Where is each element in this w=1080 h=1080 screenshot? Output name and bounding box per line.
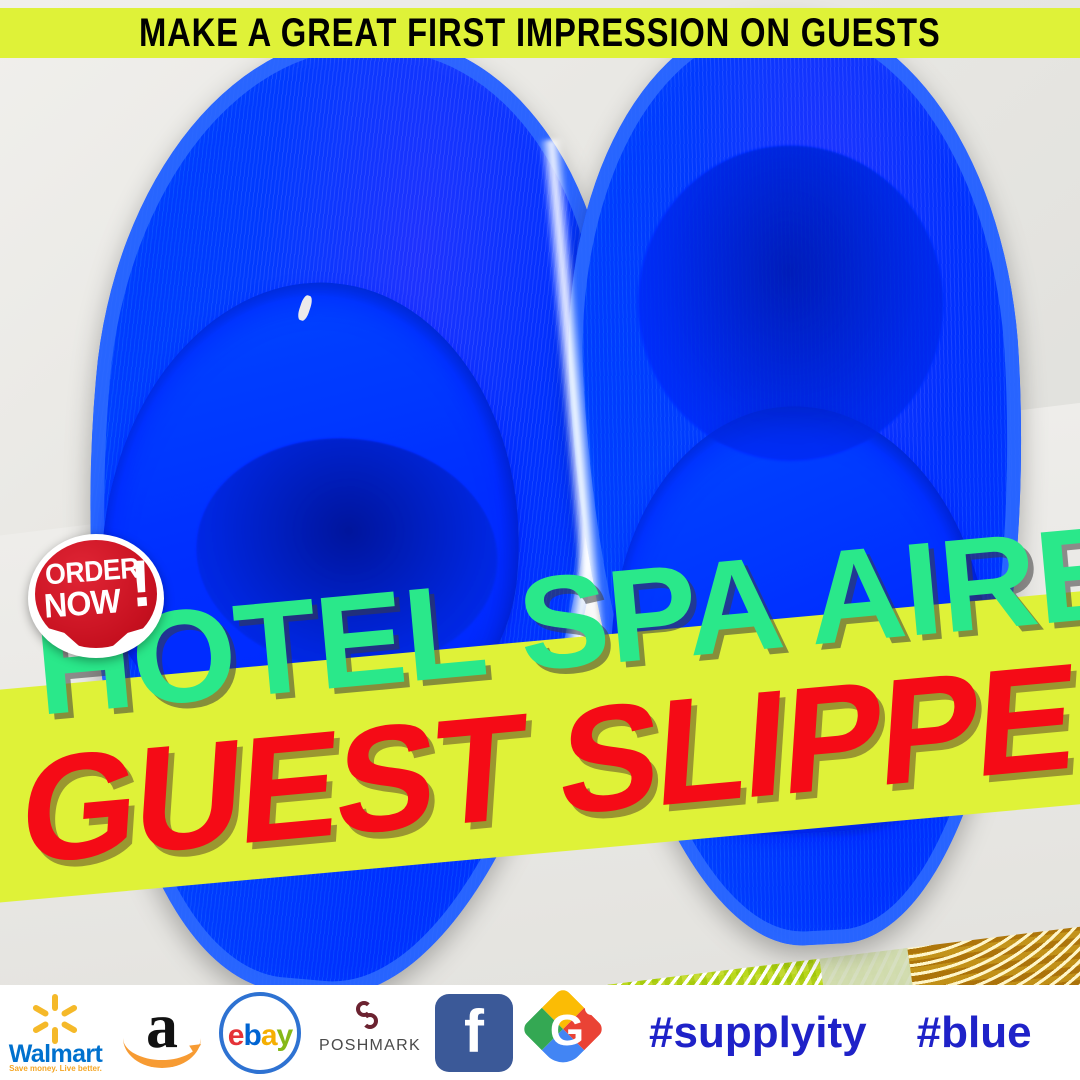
ebay-wordmark: ebay bbox=[217, 1019, 303, 1053]
facebook-letter-f: f bbox=[435, 997, 513, 1066]
google-shopping-logo[interactable]: G bbox=[527, 993, 607, 1073]
badge-exclamation: ! bbox=[128, 549, 155, 616]
hashtag-blue[interactable]: #blue bbox=[917, 1008, 1032, 1058]
badge-line-now: NOW bbox=[43, 582, 121, 626]
marketplace-logo-footer: Walmart Save money. Live better. a ebay … bbox=[0, 985, 1080, 1080]
walmart-spark-icon bbox=[30, 994, 80, 1044]
amazon-swoosh-icon bbox=[123, 1038, 201, 1068]
walmart-tagline: Save money. Live better. bbox=[8, 1064, 103, 1073]
ebay-letter-e: e bbox=[228, 1019, 244, 1052]
top-tagline-text: MAKE A GREAT FIRST IMPRESSION ON GUESTS bbox=[139, 13, 941, 53]
ebay-letter-a: a bbox=[261, 1019, 277, 1052]
google-letter-g: G bbox=[527, 1009, 607, 1053]
product-ad-graphic: MAKE A GREAT FIRST IMPRESSION ON GUESTS … bbox=[0, 0, 1080, 1080]
order-now-badge[interactable]: ORDER NOW ! bbox=[28, 534, 164, 658]
poshmark-monogram-icon bbox=[356, 1001, 382, 1033]
poshmark-wordmark: POSHMARK bbox=[319, 1037, 419, 1055]
hashtag-supplyity[interactable]: #supplyity bbox=[649, 1008, 867, 1058]
facebook-logo[interactable]: f bbox=[435, 994, 513, 1072]
badge-text-group: ORDER NOW ! bbox=[28, 534, 164, 658]
top-tagline-banner: MAKE A GREAT FIRST IMPRESSION ON GUESTS bbox=[0, 8, 1080, 58]
ebay-letter-b: b bbox=[243, 1019, 260, 1052]
poshmark-logo[interactable]: POSHMARK bbox=[319, 1001, 419, 1065]
amazon-logo[interactable]: a bbox=[121, 998, 203, 1068]
ebay-letter-y: y bbox=[277, 1019, 293, 1052]
walmart-logo[interactable]: Walmart Save money. Live better. bbox=[8, 992, 103, 1074]
ebay-logo[interactable]: ebay bbox=[217, 990, 303, 1076]
